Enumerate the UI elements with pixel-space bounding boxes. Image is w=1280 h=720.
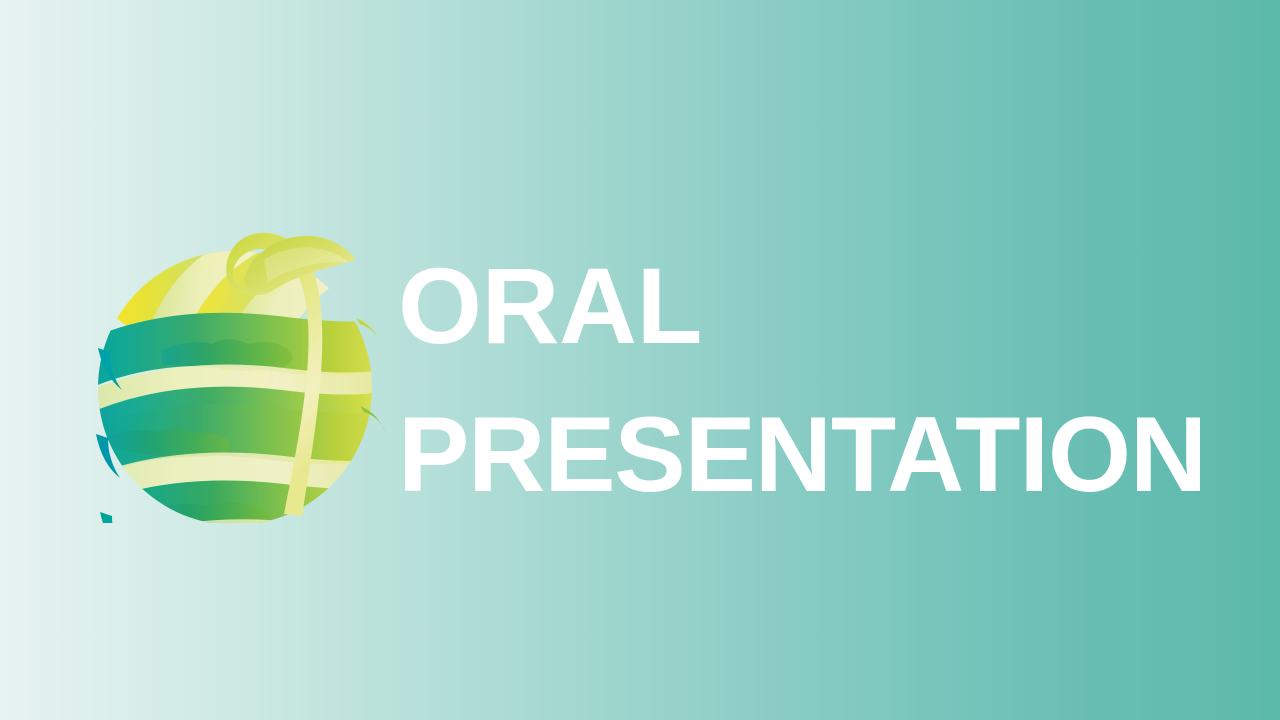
globe-ribbon-leaf-logo	[88, 198, 388, 523]
title-line-oral: ORAL	[398, 232, 1218, 380]
page-title: ORAL PRESENTATION	[398, 232, 1218, 528]
title-line-presentation: PRESENTATION	[398, 380, 1218, 528]
globe-ribbons	[88, 218, 388, 523]
title-slide: ORAL PRESENTATION	[0, 0, 1280, 720]
